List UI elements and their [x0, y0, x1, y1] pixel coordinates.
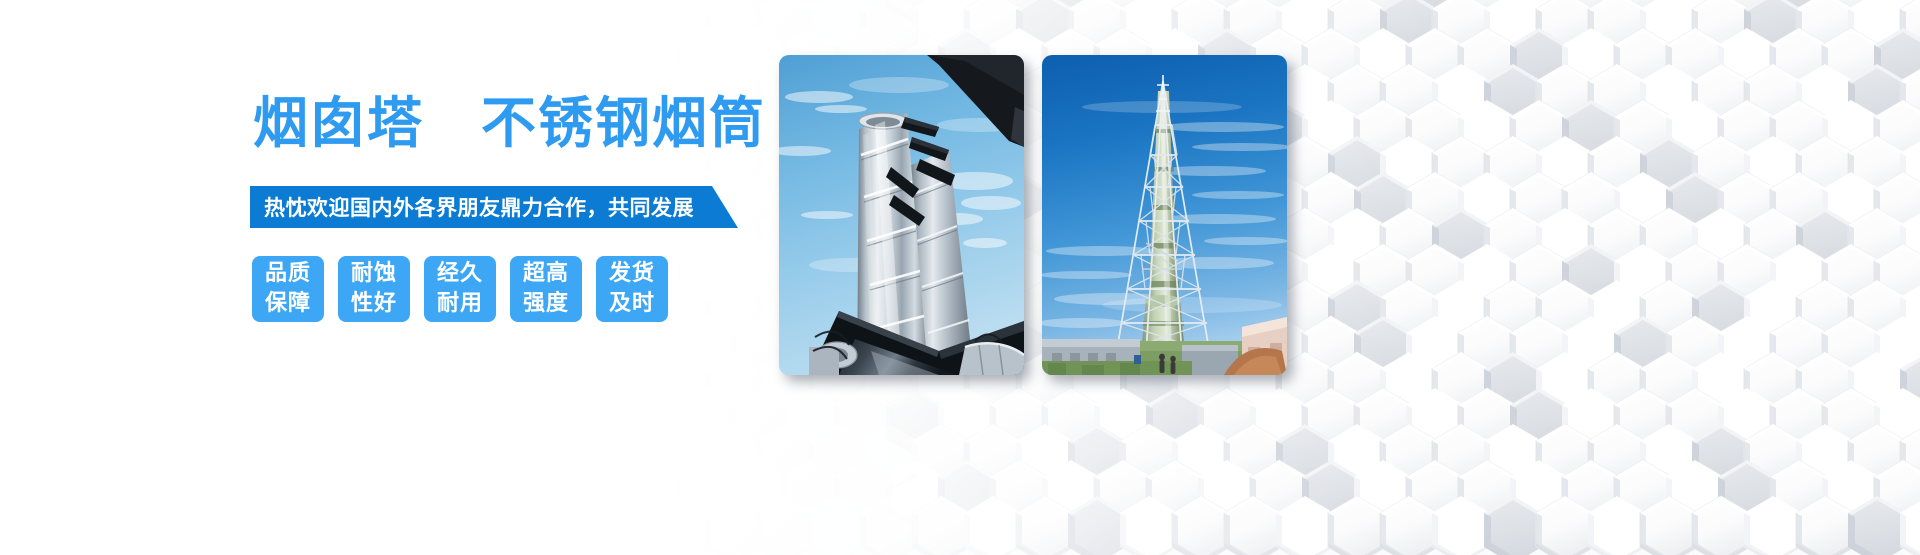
slogan-ribbon: 热忱欢迎国内外各界朋友鼎力合作，共同发展 — [250, 186, 738, 228]
slogan-text: 热忱欢迎国内外各界朋友鼎力合作，共同发展 — [264, 192, 694, 222]
feature-badge-corrosion-resistance[interactable]: 耐蚀 性好 — [338, 256, 410, 322]
page-title: 烟囱塔 不锈钢烟筒 — [253, 92, 766, 154]
badge-line-2: 强度 — [523, 289, 569, 319]
badge-line-2: 耐用 — [437, 289, 483, 319]
badge-line-2: 及时 — [609, 289, 655, 319]
product-photo-lattice-tower[interactable] — [1042, 55, 1287, 375]
feature-badge-fast-delivery[interactable]: 发货 及时 — [596, 256, 668, 322]
badge-line-2: 性好 — [351, 289, 397, 319]
badge-line-1: 品质 — [265, 259, 311, 289]
feature-badge-quality[interactable]: 品质 保障 — [252, 256, 324, 322]
badge-line-2: 保障 — [265, 289, 311, 319]
feature-badge-list: 品质 保障 耐蚀 性好 经久 耐用 超高 强度 发货 及时 — [252, 256, 668, 322]
badge-line-1: 发货 — [609, 259, 655, 289]
banner-stage: 烟囱塔 不锈钢烟筒 热忱欢迎国内外各界朋友鼎力合作，共同发展 品质 保障 耐蚀 … — [0, 0, 1920, 555]
product-photo-stainless-chimney[interactable] — [779, 55, 1024, 375]
feature-badge-durability[interactable]: 经久 耐用 — [424, 256, 496, 322]
badge-line-1: 耐蚀 — [351, 259, 397, 289]
badge-line-1: 超高 — [523, 259, 569, 289]
badge-line-1: 经久 — [437, 259, 483, 289]
feature-badge-high-strength[interactable]: 超高 强度 — [510, 256, 582, 322]
